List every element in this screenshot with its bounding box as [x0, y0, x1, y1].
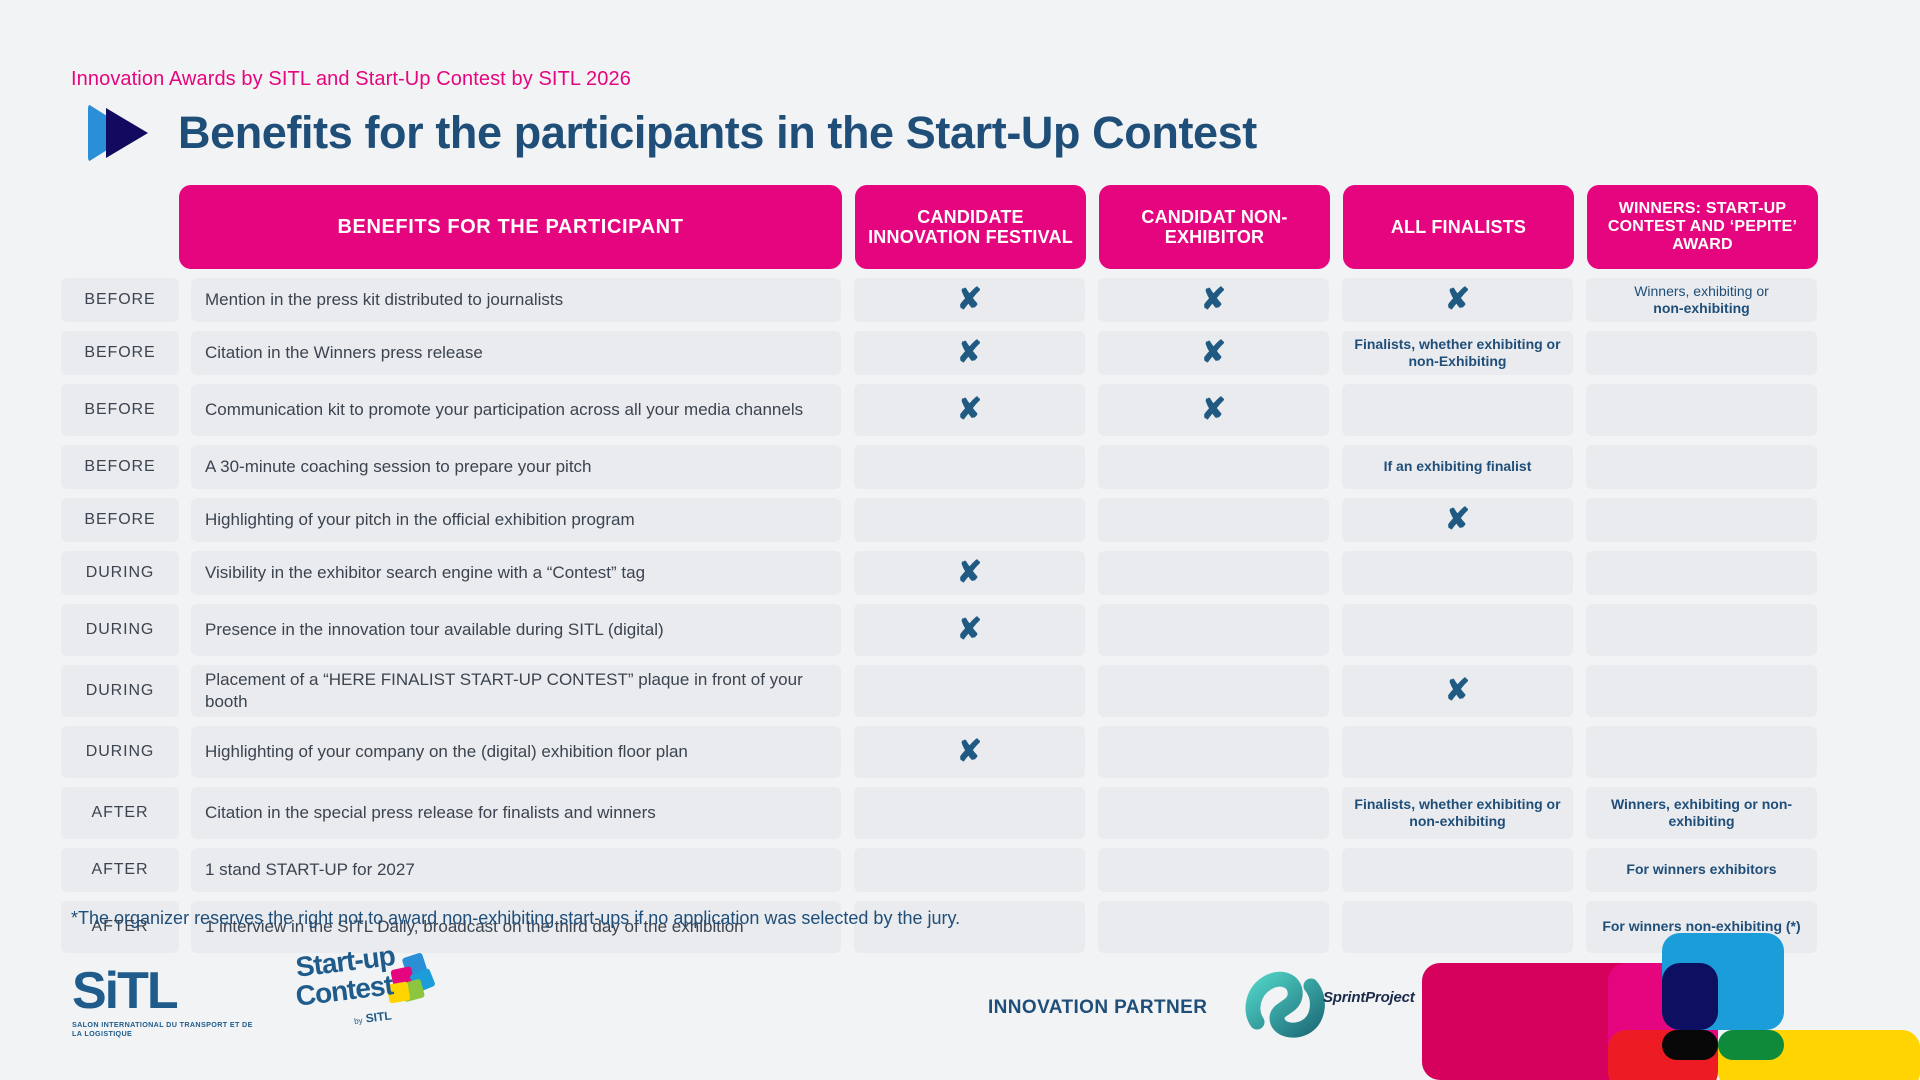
cell-empty [1342, 384, 1573, 436]
cell-note: Finalists, whether exhibiting or non-Exh… [1342, 331, 1573, 375]
deco-green [1718, 1030, 1784, 1060]
cell-empty [1098, 901, 1329, 953]
table-row: BEFOREMention in the press kit distribut… [0, 278, 1920, 322]
sprint-project-mark-icon [1243, 960, 1333, 1040]
x-mark-icon: ✘ [1445, 676, 1470, 706]
startup-contest-line3: by SITL [353, 1001, 456, 1027]
innovation-partner-label: INNOVATION PARTNER [988, 997, 1207, 1019]
column-header-benefit: BENEFITS FOR THE PARTICIPANT [179, 185, 842, 269]
cell-empty [1586, 445, 1817, 489]
cell-check-mark: ✘ [854, 604, 1085, 656]
cell-note: Winners, exhibiting ornon-exhibiting [1586, 278, 1817, 322]
table-row: DURINGPlacement of a “HERE FINALIST STAR… [0, 665, 1920, 717]
cell-check-mark: ✘ [854, 384, 1085, 436]
table-body: BEFOREMention in the press kit distribut… [0, 278, 1920, 953]
cell-note-bold: Winners, exhibiting or non-exhibiting [1594, 796, 1809, 831]
cell-check-mark: ✘ [1098, 331, 1329, 375]
sprint-project-wordmark: SprintProject [1323, 989, 1415, 1006]
table-row: DURINGHighlighting of your company on th… [0, 726, 1920, 778]
sitl-logo-tagline: SALON INTERNATIONAL DU TRANSPORT ET DE L… [72, 1020, 257, 1038]
deco-navy [1662, 963, 1718, 1030]
column-header-all-finalists: ALL FINALISTS [1343, 185, 1574, 269]
cell-empty [1098, 787, 1329, 839]
cell-note-text: If an exhibiting finalist [1384, 458, 1532, 476]
page-title: Benefits for the participants in the Sta… [178, 107, 1257, 159]
cell-empty [1342, 551, 1573, 595]
cell-empty [1342, 604, 1573, 656]
row-phase-label: BEFORE [61, 384, 179, 436]
startup-contest-sitl: SITL [365, 1009, 393, 1026]
x-mark-icon: ✘ [1445, 285, 1470, 315]
x-mark-icon: ✘ [1201, 285, 1226, 315]
column-header-candidat-non-exhibitor: CANDIDAT NON-EXHIBITOR [1099, 185, 1330, 269]
x-mark-icon: ✘ [957, 395, 982, 425]
x-mark-icon: ✘ [957, 558, 982, 588]
cell-empty [1098, 665, 1329, 717]
cell-check-mark: ✘ [854, 726, 1085, 778]
cell-note: Finalists, whether exhibiting or non-exh… [1342, 787, 1573, 839]
table-row: AFTER1 stand START-UP for 2027For winner… [0, 848, 1920, 892]
table-row: BEFOREHighlighting of your pitch in the … [0, 498, 1920, 542]
row-phase-label: BEFORE [61, 331, 179, 375]
row-phase-label: DURING [61, 604, 179, 656]
cell-empty [1586, 498, 1817, 542]
cell-empty [1098, 604, 1329, 656]
cell-empty [1098, 726, 1329, 778]
cell-note-regular: Winners, exhibiting or [1634, 283, 1769, 301]
cell-note-bold: For winners exhibitors [1626, 861, 1776, 879]
cell-empty [854, 848, 1085, 892]
row-benefit-text: Visibility in the exhibitor search engin… [191, 551, 841, 595]
row-phase-label: AFTER [61, 848, 179, 892]
row-benefit-text: Highlighting of your company on the (dig… [191, 726, 841, 778]
play-triangle-logo-icon [88, 104, 150, 162]
x-mark-icon: ✘ [957, 338, 982, 368]
table-row: BEFORECitation in the Winners press rele… [0, 331, 1920, 375]
x-mark-icon: ✘ [1201, 395, 1226, 425]
cell-empty [854, 498, 1085, 542]
row-benefit-text: Mention in the press kit distributed to … [191, 278, 841, 322]
sprint-project-logo: SprintProject [1243, 960, 1438, 1040]
cell-check-mark: ✘ [1342, 498, 1573, 542]
cell-empty [1342, 726, 1573, 778]
cell-note-bold: If an exhibiting finalist [1384, 458, 1532, 476]
row-phase-label: BEFORE [61, 498, 179, 542]
x-mark-icon: ✘ [1445, 505, 1470, 535]
infographic-page: Innovation Awards by SITL and Start-Up C… [0, 0, 1920, 1080]
cell-empty [854, 665, 1085, 717]
sitl-logo-word: SiTL [72, 965, 257, 1017]
cell-empty [1586, 665, 1817, 717]
row-phase-label: BEFORE [61, 445, 179, 489]
cell-empty [1098, 445, 1329, 489]
cell-empty [1586, 551, 1817, 595]
table-row: AFTERCitation in the special press relea… [0, 787, 1920, 839]
cell-empty [1342, 848, 1573, 892]
x-mark-icon: ✘ [957, 737, 982, 767]
deco-black [1662, 1030, 1718, 1060]
row-phase-label: BEFORE [61, 278, 179, 322]
cell-note-text: For winners exhibitors [1626, 861, 1776, 879]
cell-check-mark: ✘ [1342, 278, 1573, 322]
cell-note: Winners, exhibiting or non-exhibiting [1586, 787, 1817, 839]
cell-note-bold: Finalists, whether exhibiting or non-Exh… [1350, 336, 1565, 371]
row-benefit-text: 1 stand START-UP for 2027 [191, 848, 841, 892]
table-row: BEFORECommunication kit to promote your … [0, 384, 1920, 436]
row-phase-label: DURING [61, 551, 179, 595]
cell-check-mark: ✘ [854, 551, 1085, 595]
column-header-winners: WINNERS: START-UP CONTEST AND ‘PEPITE’ A… [1587, 185, 1818, 269]
row-benefit-text: Placement of a “HERE FINALIST START-UP C… [191, 665, 841, 717]
table-header-row: BENEFITS FOR THE PARTICIPANT CANDIDATE I… [0, 185, 1920, 269]
benefits-table: BENEFITS FOR THE PARTICIPANT CANDIDATE I… [0, 185, 1920, 953]
header-spacer [0, 185, 179, 269]
cell-check-mark: ✘ [1342, 665, 1573, 717]
x-mark-icon: ✘ [1201, 338, 1226, 368]
cell-note-text: Finalists, whether exhibiting or non-exh… [1350, 796, 1565, 831]
cell-note-text: Winners, exhibiting ornon-exhibiting [1634, 283, 1769, 318]
row-benefit-text: Citation in the special press release fo… [191, 787, 841, 839]
cell-empty [854, 787, 1085, 839]
row-benefit-text: Presence in the innovation tour availabl… [191, 604, 841, 656]
decorative-squares-graphic [1422, 925, 1920, 1080]
title-row: Benefits for the participants in the Sta… [88, 104, 1257, 162]
cell-check-mark: ✘ [854, 331, 1085, 375]
cell-empty [1098, 498, 1329, 542]
table-row: DURINGVisibility in the exhibitor search… [0, 551, 1920, 595]
column-header-candidate-innovation-festival: CANDIDATE INNOVATION FESTIVAL [855, 185, 1086, 269]
sitl-logo: SiTL SALON INTERNATIONAL DU TRANSPORT ET… [72, 965, 257, 1038]
cell-note-text: Winners, exhibiting or non-exhibiting [1594, 796, 1809, 831]
eyebrow-text: Innovation Awards by SITL and Start-Up C… [71, 68, 631, 91]
disclaimer-text: *The organizer reserves the right not to… [71, 908, 960, 929]
startup-contest-logo: Start-up Contest by SITL [296, 955, 456, 1050]
cell-note: If an exhibiting finalist [1342, 445, 1573, 489]
cell-check-mark: ✘ [1098, 384, 1329, 436]
cell-empty [1098, 551, 1329, 595]
x-mark-icon: ✘ [957, 615, 982, 645]
cell-note-bold: Finalists, whether exhibiting or non-exh… [1350, 796, 1565, 831]
cell-check-mark: ✘ [854, 278, 1085, 322]
cell-empty [1586, 604, 1817, 656]
row-benefit-text: Highlighting of your pitch in the offici… [191, 498, 841, 542]
x-mark-icon: ✘ [957, 285, 982, 315]
cell-empty [1586, 331, 1817, 375]
cell-note-text: Finalists, whether exhibiting or non-Exh… [1350, 336, 1565, 371]
startup-contest-by: by [354, 1016, 363, 1026]
row-phase-label: AFTER [61, 787, 179, 839]
cell-note: For winners exhibitors [1586, 848, 1817, 892]
cell-note-bold: non-exhibiting [1634, 300, 1769, 318]
table-row: DURINGPresence in the innovation tour av… [0, 604, 1920, 656]
cell-empty [854, 445, 1085, 489]
row-benefit-text: Communication kit to promote your partic… [191, 384, 841, 436]
row-phase-label: DURING [61, 726, 179, 778]
cell-empty [1586, 384, 1817, 436]
cell-check-mark: ✘ [1098, 278, 1329, 322]
row-benefit-text: A 30-minute coaching session to prepare … [191, 445, 841, 489]
row-benefit-text: Citation in the Winners press release [191, 331, 841, 375]
cell-empty [1098, 848, 1329, 892]
row-phase-label: DURING [61, 665, 179, 717]
cell-empty [1586, 726, 1817, 778]
table-row: BEFOREA 30-minute coaching session to pr… [0, 445, 1920, 489]
